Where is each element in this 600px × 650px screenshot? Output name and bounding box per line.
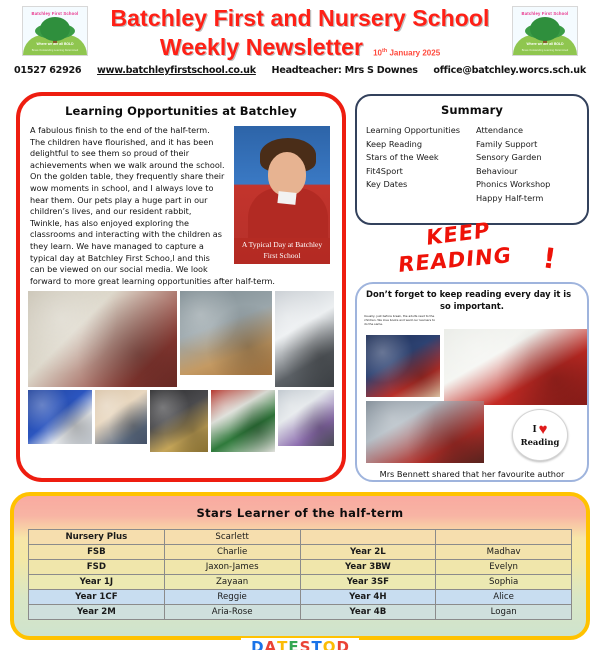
reading-photo-boy-reading <box>366 335 440 397</box>
summary-columns: Learning Opportunities Keep Reading Star… <box>366 124 578 206</box>
issue-date-rest: January 2025 <box>387 49 440 58</box>
stars-learner-title: Stars Learner of the half-term <box>28 506 572 520</box>
stars-class-cell: Year 4B <box>300 605 436 620</box>
newsletter-page: Batchley First School Where we are all B… <box>0 0 600 650</box>
stars-name-cell: Jaxon-James <box>164 560 300 575</box>
i-love-reading-badge: I ♥ Reading <box>512 409 568 461</box>
collage-photo-activity-table <box>95 390 147 444</box>
headteacher-name: Headteacher: Mrs S Downes <box>272 65 418 76</box>
summary-item: Key Dates <box>366 178 468 192</box>
reading-photo-assembly-hall <box>366 401 484 463</box>
learning-opportunities-title: Learning Opportunities at Batchley <box>28 104 334 118</box>
summary-item: Family Support <box>476 138 578 152</box>
stars-class-cell: Nursery Plus <box>29 530 165 545</box>
logo-motto-sub: Brave Outstanding Learning Determined <box>513 49 577 52</box>
logo-tree-canopy-icon <box>530 17 560 41</box>
teaser-letter: O <box>323 638 336 650</box>
stars-name-cell: Alice <box>436 590 572 605</box>
stars-learner-panel: Stars Learner of the half-term Nursery P… <box>10 492 590 640</box>
collage-photo-display-board <box>28 390 92 444</box>
masthead-title-line2-row: Weekly Newsletter 10th January 2025 <box>0 33 600 62</box>
summary-item: Attendance <box>476 124 578 138</box>
stars-name-cell <box>436 530 572 545</box>
collage-photo-toy-dog <box>180 291 272 375</box>
school-logo-right: Batchley First School Where we are all B… <box>512 6 578 56</box>
stars-class-cell: FSD <box>29 560 165 575</box>
badge-top-row: I ♥ <box>532 423 547 436</box>
keep-reading-line2: READING <box>397 243 512 277</box>
masthead-title-line1: Batchley First and Nursery School <box>0 4 600 33</box>
teaser-letter: T <box>277 638 287 650</box>
teaser-letter: D <box>336 638 348 650</box>
keep-reading-annotation: KEEP READING ! <box>398 222 568 284</box>
issue-date-day: 10 <box>373 49 382 58</box>
keep-reading-heading-line2: so important. <box>366 301 578 313</box>
collage-photo-balloon-water <box>275 291 334 387</box>
stars-class-cell: Year 3SF <box>300 575 436 590</box>
learning-opportunities-panel: Learning Opportunities at Batchley A Typ… <box>16 92 346 482</box>
article-photo-caption: A Typical Day at Batchley First School <box>234 238 330 264</box>
reading-photo-children-books <box>444 329 589 405</box>
reading-footer-line1: Mrs Bennett shared that her favourite au… <box>364 469 580 480</box>
summary-title: Summary <box>366 103 578 117</box>
collage-photo-newspaper-table <box>28 291 177 387</box>
keep-reading-heading-line1: Don’t forget to keep reading every day i… <box>366 289 571 299</box>
masthead-title-line2: Weekly Newsletter <box>160 33 363 62</box>
stars-class-cell: Year 4H <box>300 590 436 605</box>
table-row: Nursery Plus Scarlett <box>29 530 572 545</box>
next-section-teaser: D A T E S T O D <box>0 638 600 650</box>
summary-item: Behaviour <box>476 165 578 179</box>
table-row: FSB Charlie Year 2L Madhav <box>29 545 572 560</box>
article-photo-girl: A Typical Day at Batchley First School <box>234 126 330 264</box>
summary-column-2: Attendance Family Support Sensory Garden… <box>476 124 578 206</box>
stars-class-cell <box>300 530 436 545</box>
stars-name-cell: Aria-Rose <box>164 605 300 620</box>
collage-photo-artefacts <box>150 390 208 452</box>
logo-motto: Where we are all BOLD <box>23 42 87 46</box>
logo-tree-canopy-icon <box>40 17 70 41</box>
collage-photo-water-tray <box>278 390 334 446</box>
teaser-letter: E <box>288 638 298 650</box>
stars-learner-table: Nursery Plus Scarlett FSB Charlie Year 2… <box>28 529 572 620</box>
logo-arch-text: Batchley First School <box>513 11 577 16</box>
school-logo-left: Batchley First School Where we are all B… <box>22 6 88 56</box>
stars-class-cell: Year 1J <box>29 575 165 590</box>
summary-item: Stars of the Week <box>366 151 468 165</box>
summary-item: Sensory Garden <box>476 151 578 165</box>
collage-photo-printing <box>211 390 275 452</box>
stars-name-cell: Logan <box>436 605 572 620</box>
teaser-letter: A <box>265 638 277 650</box>
table-row: Year 1J Zayaan Year 3SF Sophia <box>29 575 572 590</box>
newsletter-header: Batchley First School Where we are all B… <box>0 0 600 88</box>
stars-name-cell: Zayaan <box>164 575 300 590</box>
reading-footer-line2: is Julia Donaldson. <box>364 480 580 482</box>
learning-article: A Typical Day at Batchley First School A… <box>28 125 334 287</box>
logo-motto-sub: Brave Outstanding Learning Determined <box>23 49 87 52</box>
summary-item: Phonics Workshop <box>476 178 578 192</box>
badge-letter-i: I <box>532 425 536 435</box>
school-website-link[interactable]: www.batchleyfirstschool.co.uk <box>97 65 256 76</box>
collage-row-bottom <box>28 390 334 452</box>
summary-column-1: Learning Opportunities Keep Reading Star… <box>366 124 468 206</box>
stars-class-cell: Year 3BW <box>300 560 436 575</box>
reading-footer-caption: Mrs Bennett shared that her favourite au… <box>364 469 580 482</box>
photo-collage <box>28 291 334 452</box>
keep-reading-heading: Don’t forget to keep reading every day i… <box>364 289 580 312</box>
photo-face-shape <box>268 152 306 196</box>
stars-name-cell: Charlie <box>164 545 300 560</box>
school-phone: 01527 62926 <box>14 65 81 76</box>
stars-name-cell: Madhav <box>436 545 572 560</box>
stars-class-cell: Year 2L <box>300 545 436 560</box>
stars-class-cell: Year 1CF <box>29 590 165 605</box>
summary-item: Happy Half-term <box>476 192 578 206</box>
teaser-letter: S <box>300 638 311 650</box>
teaser-letters: D A T E S T O D <box>241 638 359 650</box>
stars-name-cell: Sophia <box>436 575 572 590</box>
school-email-link[interactable]: office@batchley.worcs.sch.uk <box>433 65 586 76</box>
stars-class-cell: FSB <box>29 545 165 560</box>
stars-name-cell: Evelyn <box>436 560 572 575</box>
summary-panel: Summary Learning Opportunities Keep Read… <box>355 94 589 225</box>
table-row: Year 2M Aria-Rose Year 4B Logan <box>29 605 572 620</box>
collage-row-top <box>28 291 334 387</box>
masthead: Batchley First and Nursery School Weekly… <box>0 0 600 62</box>
logo-motto: Where we are all BOLD <box>513 42 577 46</box>
teaser-letter: D <box>251 638 263 650</box>
summary-item: Keep Reading <box>366 138 468 152</box>
stars-name-cell: Scarlett <box>164 530 300 545</box>
stars-name-cell: Reggie <box>164 590 300 605</box>
teaser-letter: T <box>311 638 321 650</box>
logo-arch-text: Batchley First School <box>23 11 87 16</box>
issue-date: 10th January 2025 <box>373 48 440 62</box>
contact-bar: 01527 62926 www.batchleyfirstschool.co.u… <box>0 62 600 76</box>
reading-micro-caption: Usually, just before break, the adults r… <box>364 314 438 326</box>
reading-photo-grid: I ♥ Reading <box>364 327 580 467</box>
badge-reading-label: Reading <box>521 437 560 447</box>
table-row: Year 1CF Reggie Year 4H Alice <box>29 590 572 605</box>
summary-item: Fit4Sport <box>366 165 468 179</box>
photo-collar-shape <box>277 191 296 205</box>
keep-reading-panel: Don’t forget to keep reading every day i… <box>355 282 589 482</box>
stars-class-cell: Year 2M <box>29 605 165 620</box>
heart-icon: ♥ <box>539 423 548 436</box>
table-row: FSD Jaxon-James Year 3BW Evelyn <box>29 560 572 575</box>
summary-item: Learning Opportunities <box>366 124 468 138</box>
keep-reading-exclamation: ! <box>541 241 558 275</box>
